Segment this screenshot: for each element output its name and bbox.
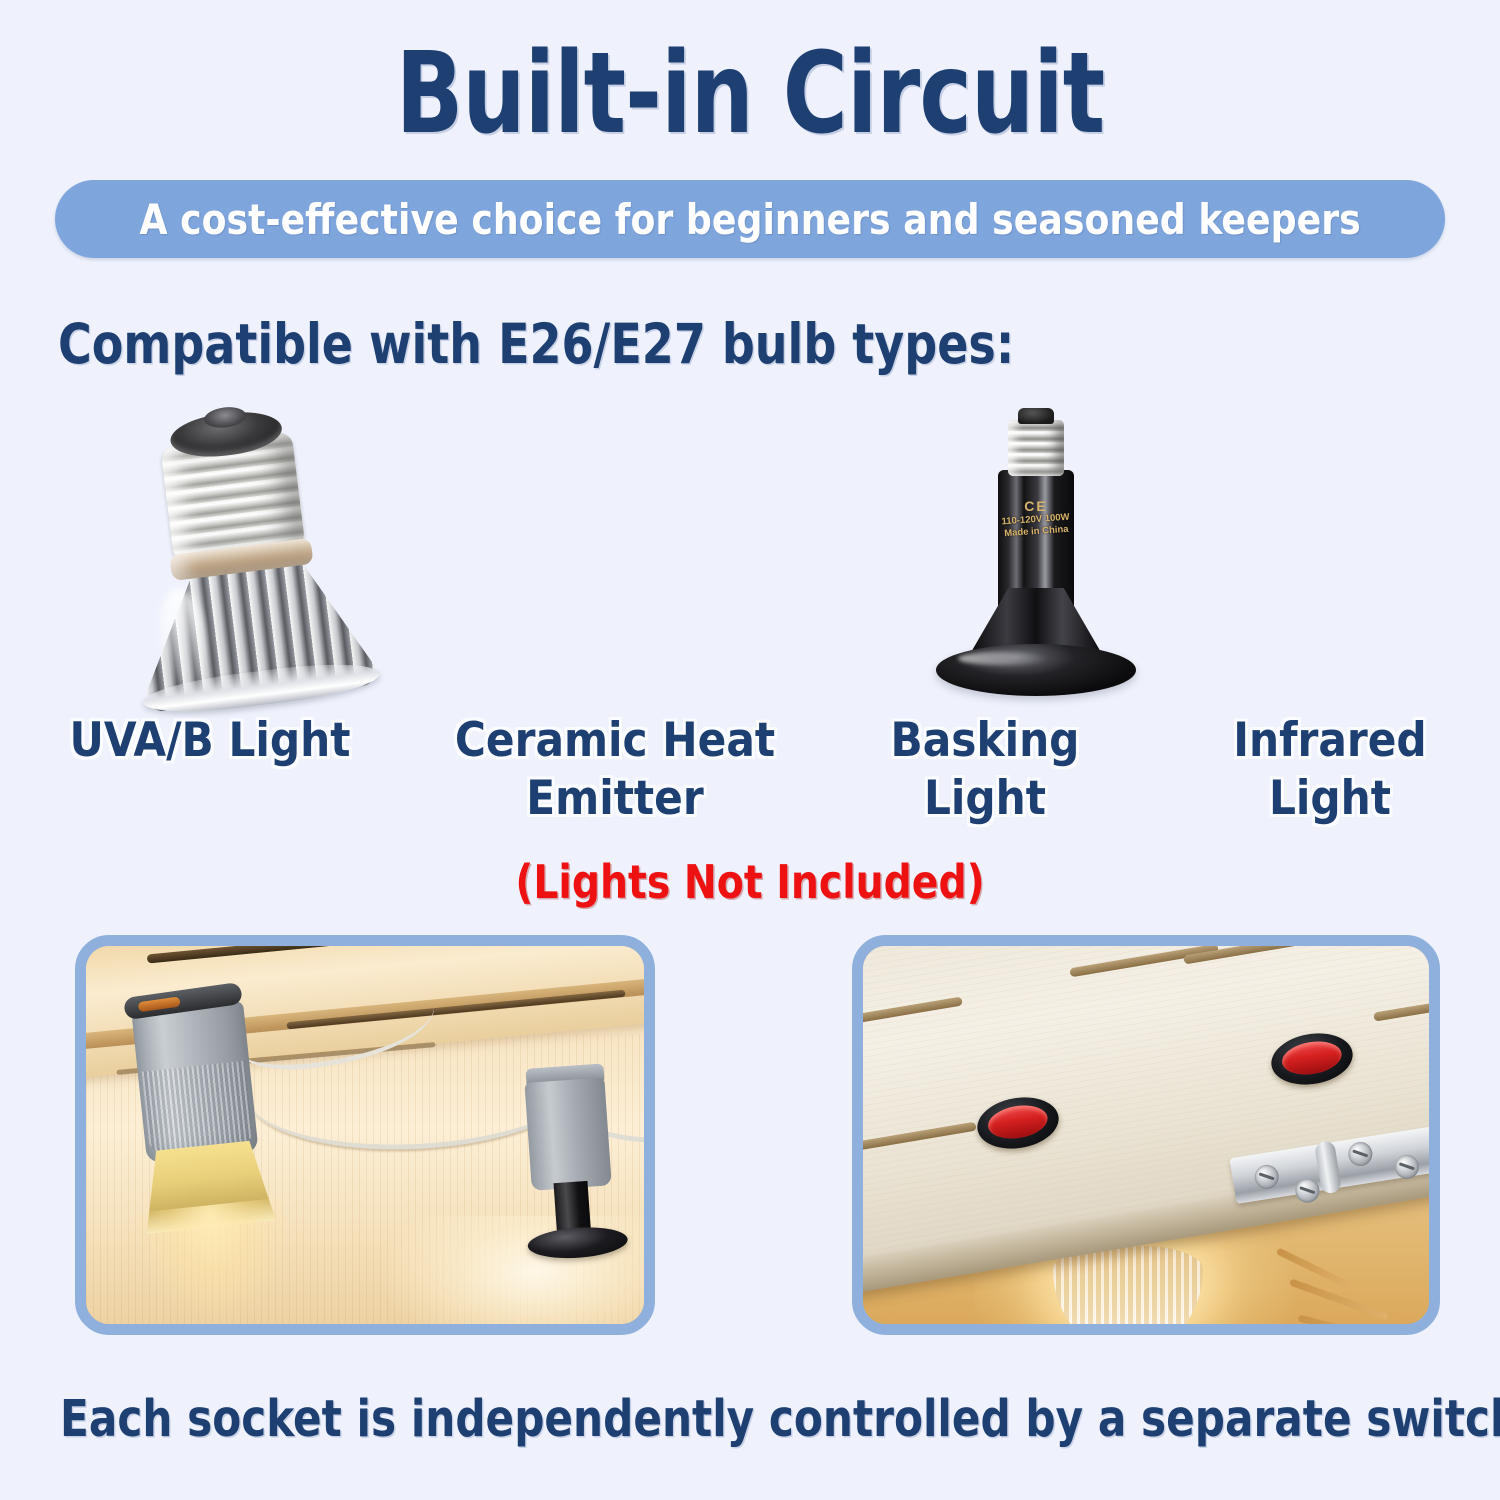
label-line-2: Light (1269, 771, 1391, 826)
label-line-1: Infrared (1233, 713, 1426, 768)
footer-caption: Each socket is independently controlled … (60, 1390, 1440, 1449)
label-line-2: Emitter (526, 771, 703, 826)
bulb-item-infrared: REPTI ZOO 150W (1160, 400, 1500, 710)
ceramic-heat-emitter-icon: CE 110-120V 100W Made in China (420, 400, 810, 700)
socket-shell (524, 1077, 611, 1190)
bulb-item-uva (0, 400, 420, 710)
socket-ridges (142, 1061, 254, 1153)
emitter-base-disc (936, 644, 1136, 696)
photo-content (863, 946, 1429, 1324)
emitter-screw-thread (1008, 420, 1064, 476)
label-line-2: Light (924, 771, 1046, 826)
bulb-light-glow (134, 1197, 296, 1324)
subtitle-text: A cost-effective choice for beginners an… (139, 195, 1360, 244)
subtitle-banner: A cost-effective choice for beginners an… (55, 180, 1445, 258)
bulb-label-uva: UVA/B Light (0, 712, 420, 770)
bulb-label-infrared: Infrared Light (1160, 712, 1500, 828)
bulb-row: CE 110-120V 100W Made in China (0, 400, 1500, 710)
bulb-label-ceramic: Ceramic Heat Emitter (420, 712, 810, 828)
compatibility-heading: Compatible with E26/E27 bulb types: (58, 312, 1014, 376)
infrared-bulb-icon: REPTI ZOO 150W (1160, 400, 1500, 700)
page-title: Built-in Circuit (90, 38, 1410, 150)
ceramic-socket-left (123, 1000, 268, 1182)
lights-not-included-note: (Lights Not Included) (38, 855, 1463, 909)
enclosure-interior-sockets-photo (75, 935, 655, 1335)
ceramic-socket-right (510, 1062, 633, 1259)
fern-decor (1263, 1246, 1413, 1324)
bulb-label-basking: Basking Light (810, 712, 1160, 828)
uva-reflector-bulb-icon (0, 400, 420, 700)
label-line-1: Ceramic Heat (455, 713, 775, 768)
label-line-1: Basking (891, 713, 1080, 768)
photo-content (86, 946, 644, 1324)
bulb-item-ceramic: CE 110-120V 100W Made in China (420, 400, 810, 710)
emitter-tip (1018, 408, 1054, 424)
fern-frond (1276, 1248, 1356, 1292)
lit-bulb (1053, 1246, 1203, 1324)
lid-top-switches-photo (852, 935, 1440, 1335)
infographic-page: Built-in Circuit A cost-effective choice… (0, 0, 1500, 1500)
bulb-label-row: UVA/B Light Ceramic Heat Emitter Basking… (0, 712, 1500, 842)
